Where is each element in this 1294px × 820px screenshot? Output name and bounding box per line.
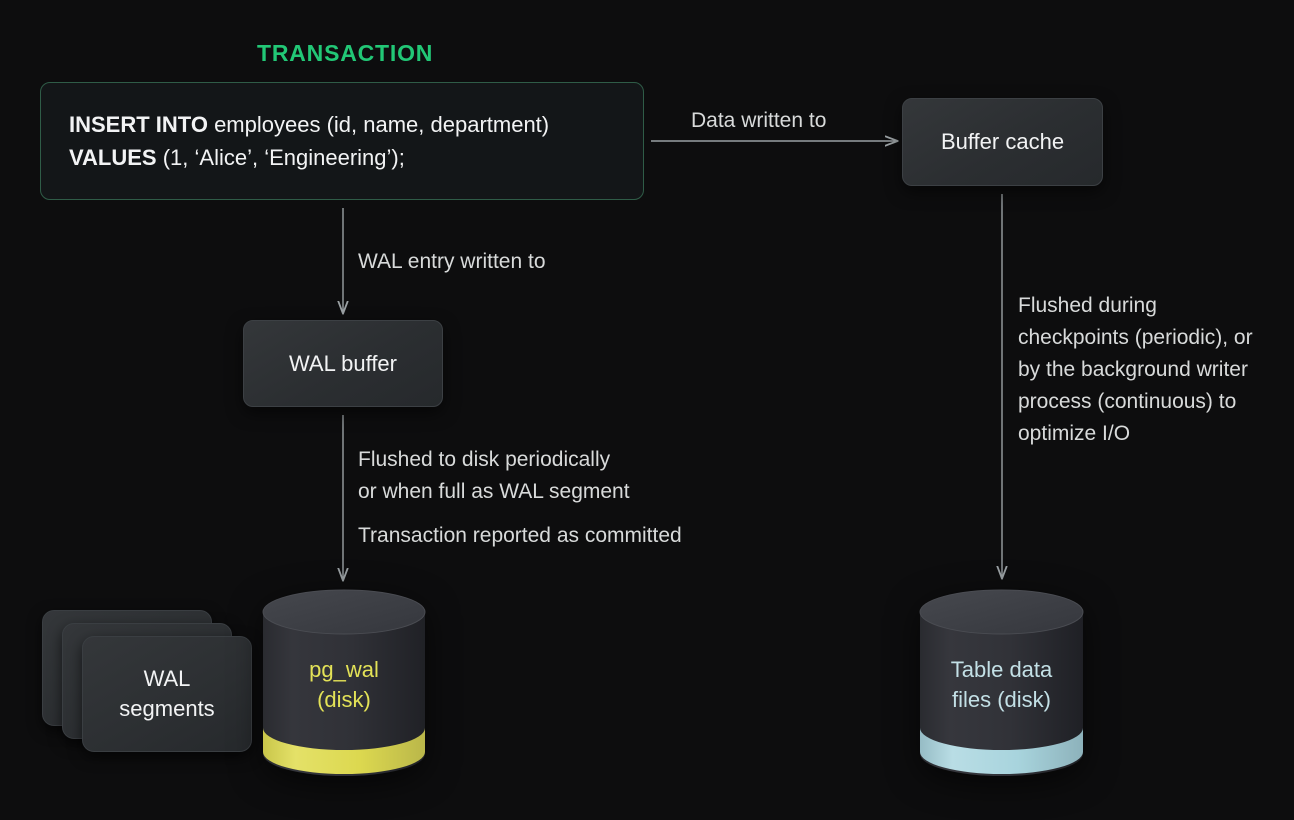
node-table-data-files-cylinder[interactable] (918, 588, 1085, 778)
wal-segment-card-front: WAL segments (82, 636, 252, 752)
node-pg-wal-cylinder[interactable] (261, 588, 427, 778)
node-wal-buffer-label: WAL buffer (289, 351, 397, 377)
edge-label-transaction-committed: Transaction reported as committed (358, 520, 682, 552)
node-wal-buffer[interactable]: WAL buffer (243, 320, 443, 407)
sql-keyword-insert-into: INSERT INTO (69, 112, 208, 137)
transaction-sql-box: INSERT INTO employees (id, name, departm… (40, 82, 644, 200)
sql-line-values: VALUES (1, ‘Alice’, ‘Engineering’); (69, 141, 643, 174)
sql-keyword-values: VALUES (69, 145, 157, 170)
node-buffer-cache[interactable]: Buffer cache (902, 98, 1103, 186)
edge-label-flushed-to-disk: Flushed to disk periodically or when ful… (358, 444, 630, 508)
edge-label-wal-entry-written-to: WAL entry written to (358, 246, 546, 278)
node-buffer-cache-label: Buffer cache (941, 129, 1064, 155)
transaction-title: TRANSACTION (257, 40, 433, 67)
sql-line-insert: INSERT INTO employees (id, name, departm… (69, 108, 643, 141)
sql-text-insert-rest: employees (id, name, department) (208, 112, 549, 137)
edge-label-data-written-to: Data written to (691, 105, 826, 137)
node-wal-segments[interactable]: WAL segments (42, 610, 252, 750)
diagram-canvas: TRANSACTION INSERT INTO employees (id, n… (0, 0, 1294, 820)
edge-label-flushed-during-checkpoints: Flushed during checkpoints (periodic), o… (1018, 290, 1268, 450)
sql-text-values-rest: (1, ‘Alice’, ‘Engineering’); (157, 145, 405, 170)
node-wal-segments-label: WAL segments (119, 664, 214, 724)
